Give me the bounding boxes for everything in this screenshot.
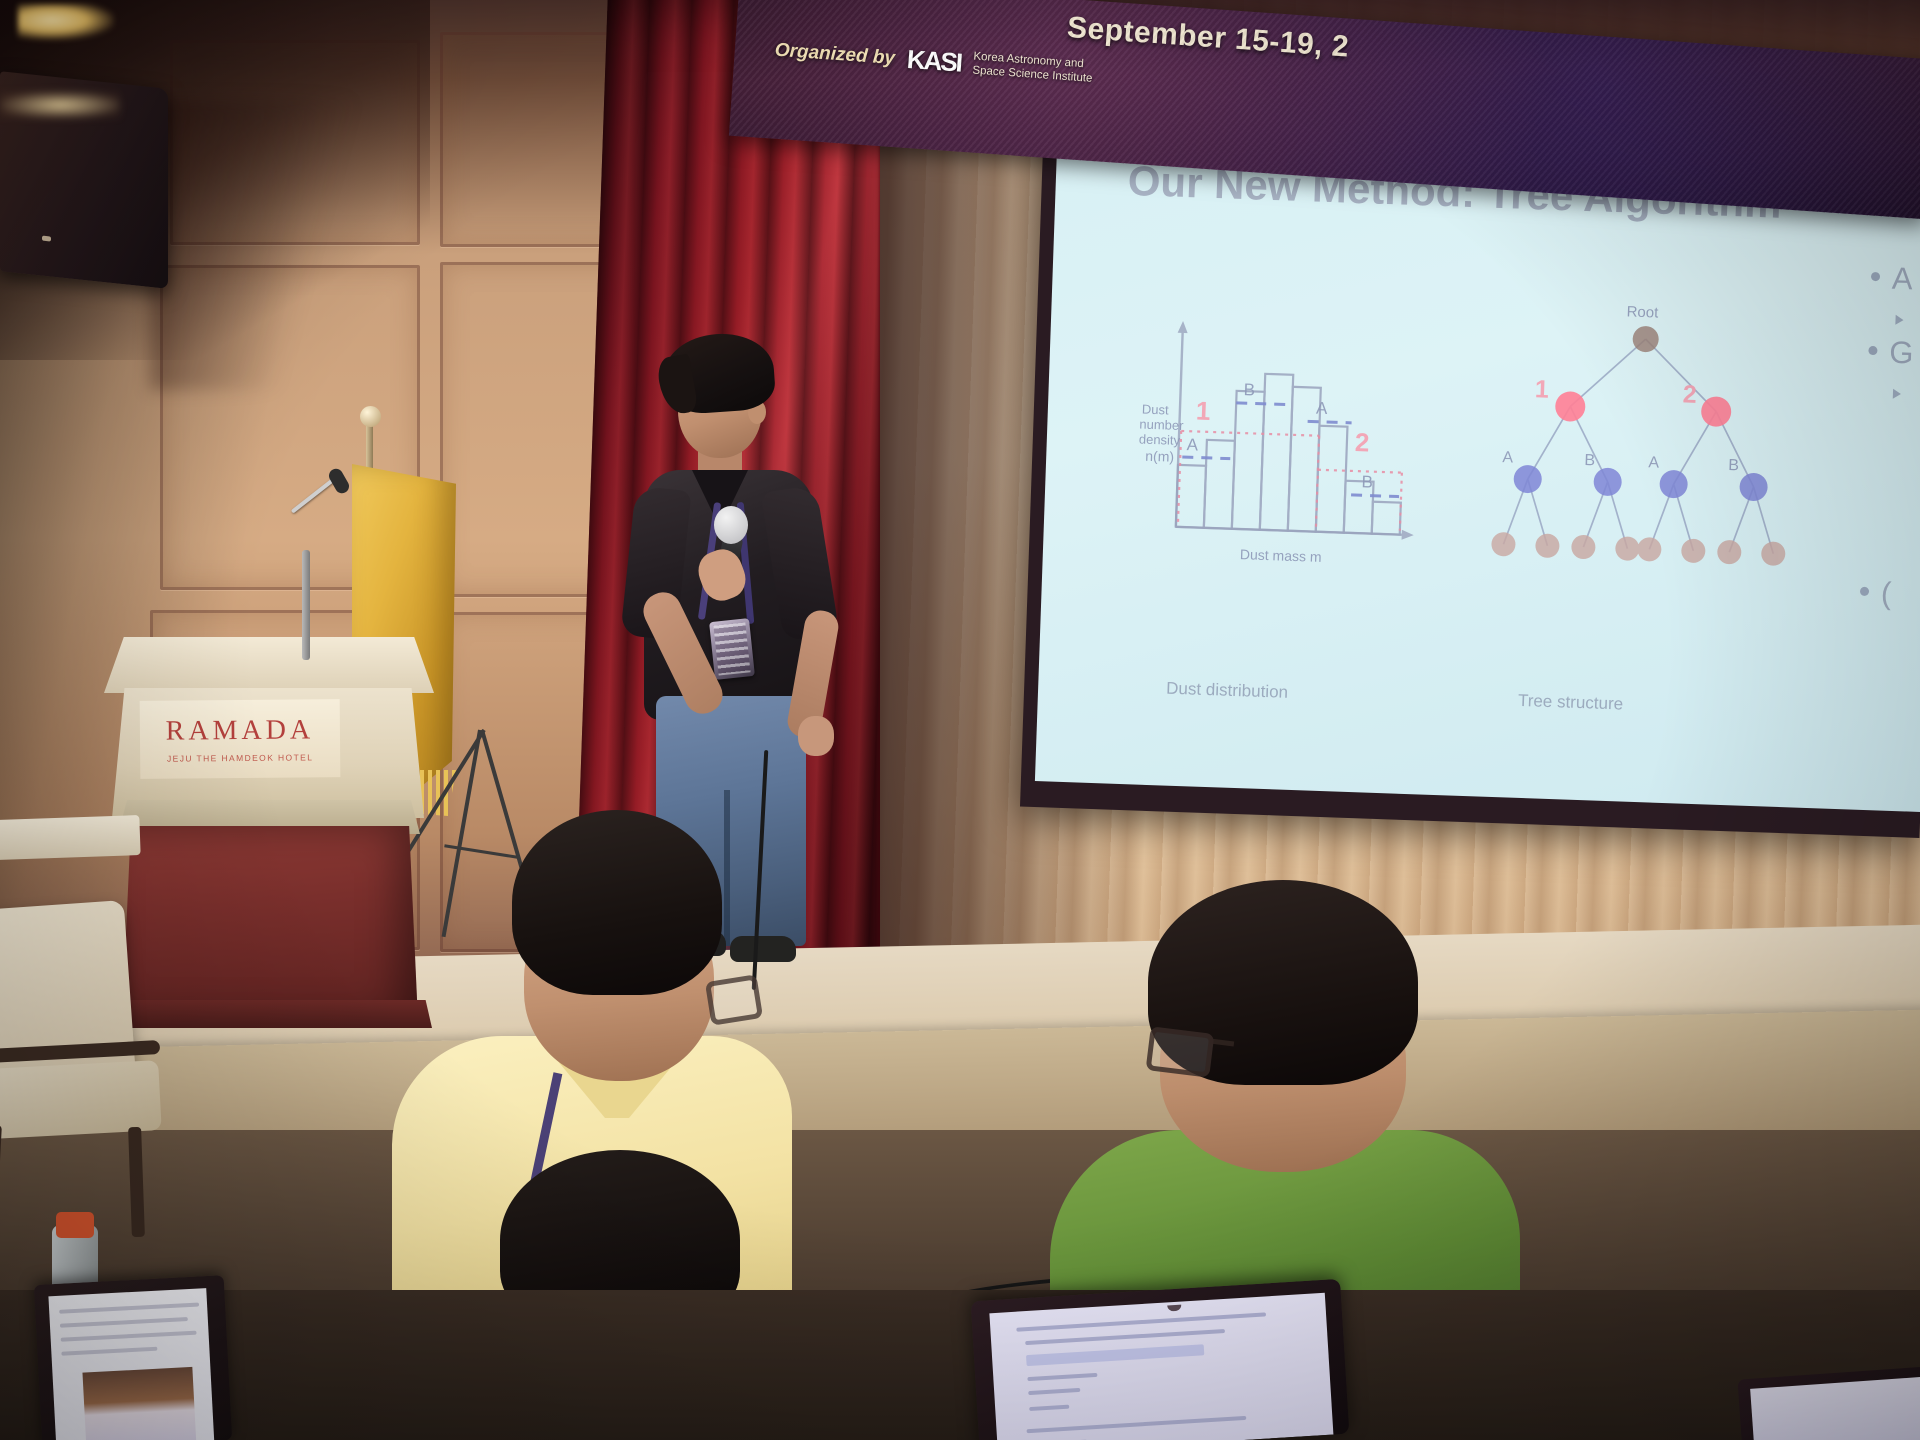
bullet-dot-icon bbox=[1871, 272, 1880, 281]
kasi-line-2: Space Science Institute bbox=[972, 64, 1093, 84]
bottle-cap bbox=[56, 1212, 94, 1238]
svg-text:Dust mass m: Dust mass m bbox=[1240, 546, 1322, 565]
tablet-device[interactable] bbox=[34, 1275, 232, 1440]
front-desk bbox=[0, 1290, 1920, 1440]
svg-text:number: number bbox=[1139, 416, 1184, 433]
laptop-webcam-icon bbox=[1167, 1305, 1181, 1312]
svg-text:density: density bbox=[1139, 431, 1181, 447]
presenter-hand-right bbox=[798, 716, 834, 756]
chair-leg bbox=[128, 1127, 145, 1237]
document-text-line bbox=[1029, 1405, 1069, 1411]
slide-bullet-list-lower: ( bbox=[1859, 575, 1920, 625]
bullet-dot-icon bbox=[1860, 587, 1869, 596]
presenter-name-badge bbox=[709, 618, 755, 680]
svg-text:Dust: Dust bbox=[1142, 402, 1170, 418]
svg-text:B: B bbox=[1584, 452, 1595, 469]
chair-leg bbox=[0, 1125, 2, 1236]
bullet-item: G bbox=[1868, 334, 1920, 374]
document-text-line bbox=[1027, 1373, 1097, 1381]
svg-text:B: B bbox=[1361, 472, 1373, 491]
flag-finial-icon bbox=[360, 406, 381, 427]
svg-text:2: 2 bbox=[1682, 380, 1697, 408]
svg-text:1: 1 bbox=[1534, 375, 1549, 403]
document-text-line bbox=[1016, 1312, 1266, 1331]
laptop-screen-right[interactable] bbox=[1750, 1375, 1920, 1440]
banner-organized-by: Organized by bbox=[774, 39, 896, 69]
podium-logo-plate: RAMADA JEJU THE HAMDEOK HOTEL bbox=[140, 699, 341, 779]
document-highlight bbox=[1026, 1344, 1204, 1366]
tablet-embedded-image bbox=[82, 1367, 196, 1440]
tablet-text-line bbox=[59, 1302, 199, 1313]
laptop-screen[interactable] bbox=[989, 1293, 1333, 1440]
document-text-line bbox=[1025, 1329, 1225, 1345]
podium-top bbox=[104, 637, 434, 693]
svg-text:n(m): n(m) bbox=[1145, 448, 1174, 465]
bullet-triangle-icon bbox=[1893, 389, 1901, 399]
svg-text:1: 1 bbox=[1195, 395, 1211, 425]
kasi-logo-icon: KASI bbox=[906, 44, 962, 79]
bullet-text: ( bbox=[1880, 575, 1892, 611]
tree-structure-diagram: Root A B A B 1 2 bbox=[1472, 291, 1812, 592]
bullet-item bbox=[1867, 380, 1920, 402]
banner-organizer-row: Organized by KASI Korea Astronomy and Sp… bbox=[774, 35, 1094, 88]
dust-distribution-chart: Dust number density n(m) Dust mass m A B… bbox=[1134, 316, 1433, 576]
mic-shaft bbox=[302, 550, 310, 660]
tablet-text-line bbox=[60, 1317, 188, 1328]
figure-caption-dust: Dust distribution bbox=[1166, 679, 1289, 703]
venue-brand-name: RAMADA bbox=[166, 714, 315, 747]
svg-text:A: A bbox=[1648, 454, 1660, 471]
stage-chair bbox=[0, 905, 210, 1235]
kasi-institute-name: Korea Astronomy and Space Science Instit… bbox=[972, 51, 1094, 86]
svg-text:Root: Root bbox=[1626, 303, 1659, 321]
tablet-text-line bbox=[61, 1347, 157, 1356]
bullet-item: A bbox=[1870, 260, 1920, 300]
svg-text:2: 2 bbox=[1354, 427, 1370, 457]
tablet-text-line bbox=[61, 1331, 197, 1342]
svg-text:B: B bbox=[1728, 457, 1739, 474]
venue-subtitle: JEJU THE HAMDEOK HOTEL bbox=[167, 752, 313, 763]
document-text-line bbox=[1027, 1416, 1247, 1433]
bullet-dot-icon bbox=[1868, 346, 1877, 355]
bullet-text: G bbox=[1889, 335, 1914, 372]
figure-caption-tree: Tree structure bbox=[1518, 691, 1624, 715]
speaker-led-icon bbox=[42, 236, 51, 242]
side-table bbox=[0, 815, 141, 861]
svg-text:B: B bbox=[1243, 380, 1255, 399]
svg-text:A: A bbox=[1316, 399, 1329, 418]
slide-footer: Taichi K. Watanabe, Sep. 15 - 19, 2025 @… bbox=[1266, 796, 1597, 812]
bullet-text: A bbox=[1891, 261, 1913, 298]
handheld-mic-head-icon bbox=[714, 506, 748, 544]
svg-text:A: A bbox=[1502, 449, 1514, 466]
bullet-triangle-icon bbox=[1895, 315, 1903, 325]
photo-scene: 2. Tree Algorithm Our New Method: Tree A… bbox=[0, 0, 1920, 1440]
audience-glasses-icon bbox=[705, 974, 763, 1026]
podium-microphone bbox=[292, 450, 338, 650]
audience-glasses-icon bbox=[1146, 1026, 1215, 1077]
bullet-item bbox=[1869, 306, 1920, 328]
slide-bullet-list: A G bbox=[1866, 260, 1920, 412]
laptop-device[interactable] bbox=[971, 1279, 1350, 1440]
svg-text:A: A bbox=[1186, 435, 1199, 454]
tablet-screen[interactable] bbox=[48, 1288, 214, 1440]
document-text-line bbox=[1028, 1388, 1080, 1395]
kasi-line-1: Korea Astronomy and bbox=[973, 51, 1084, 71]
audience-hair bbox=[512, 810, 722, 995]
banner-date: September 15-19, 2 bbox=[1066, 11, 1350, 65]
bullet-item: ( bbox=[1859, 575, 1920, 615]
speaker-cast-shadow bbox=[150, 100, 370, 390]
ceiling-light-icon bbox=[18, 4, 114, 40]
wall-light-icon bbox=[0, 92, 120, 118]
